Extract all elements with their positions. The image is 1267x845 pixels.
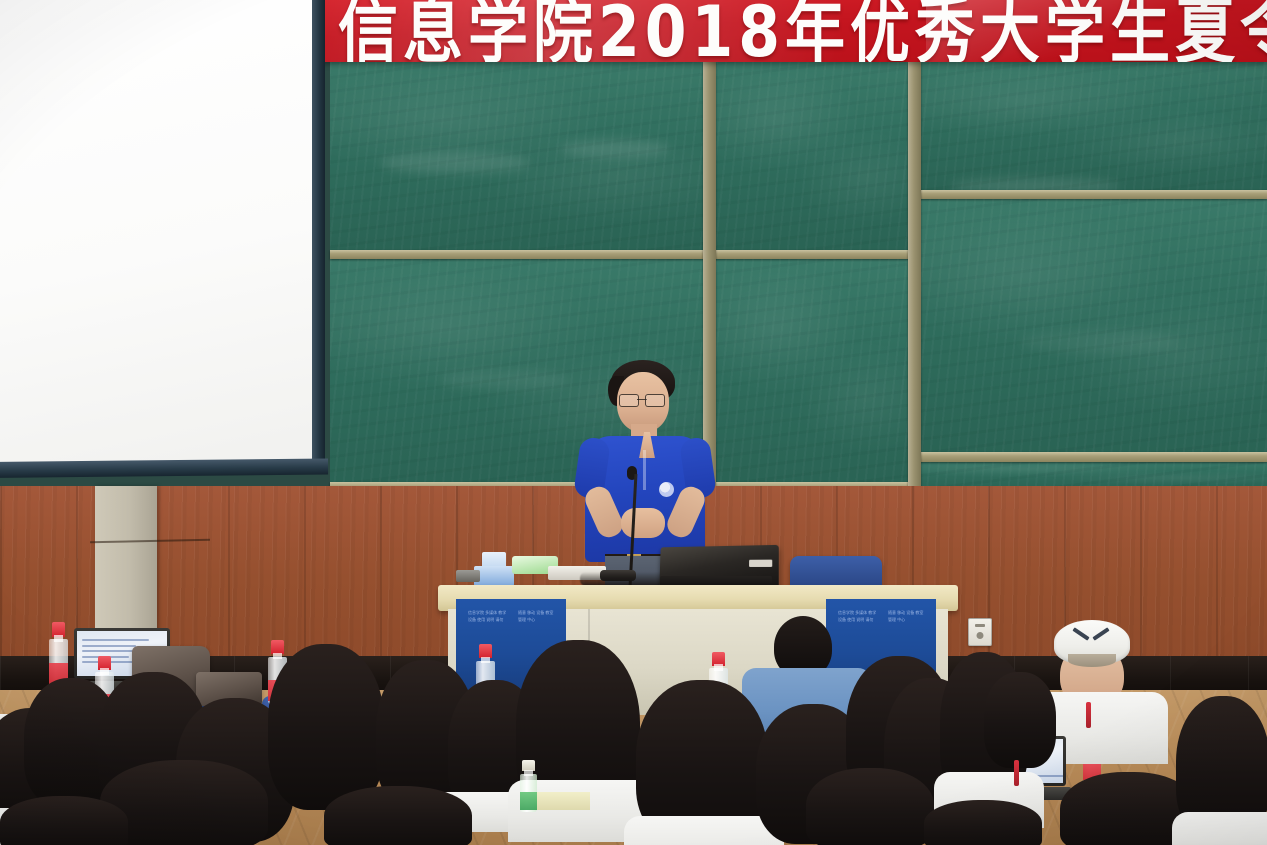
chalkboard-divider-vertical [908,62,921,492]
audience-person [324,786,474,845]
chalkboard-panel-bottom-mid [716,258,916,490]
chalkboard-panel-top-left [330,62,710,254]
photo-scene: 信息学院2018年优秀大学生夏令营开 [0,0,1267,845]
projection-screen [0,0,326,480]
audience-person [806,768,936,845]
audience-person [924,800,1044,845]
person-hair [984,672,1056,768]
blue-box [474,566,514,586]
red-banner: 信息学院2018年优秀大学生夏令营开 [320,0,1267,62]
person-hair [324,786,472,845]
projection-screen-surface [0,0,312,462]
cap-brim [1068,654,1116,667]
audience [0,600,1267,845]
person-torso [1172,812,1267,845]
lanyard [1086,702,1091,728]
audience-person [984,672,1058,792]
projection-screen-weight-bar [0,458,328,478]
notepad [534,792,590,810]
audience-person [636,680,770,845]
chalkboard-rail-bottom [920,452,1267,462]
person-hair [924,800,1042,845]
projection-screen-edge [312,0,325,468]
chalkboard-rail-horizontal [920,190,1267,199]
chalkboard-panel-top-right [920,62,1267,194]
grey-object [456,570,480,582]
chalkboard-rail-horizontal [330,250,916,259]
chalkboard-panel-top-mid [716,62,916,254]
presenter-hands [621,508,665,538]
audience-person [0,796,130,845]
audience-person [1176,696,1267,845]
lanyard [1014,760,1019,786]
banner-text: 信息学院2018年优秀大学生夏令营开 [338,0,1267,62]
monitor-label-sticker [749,560,772,567]
shirt-logo-icon [659,482,674,497]
chalkboard-panel-bottom-right [920,198,1267,456]
person-hair [806,768,934,845]
person-hair [0,796,128,845]
water-bottle [520,760,537,812]
eyeglasses-icon [619,394,665,405]
